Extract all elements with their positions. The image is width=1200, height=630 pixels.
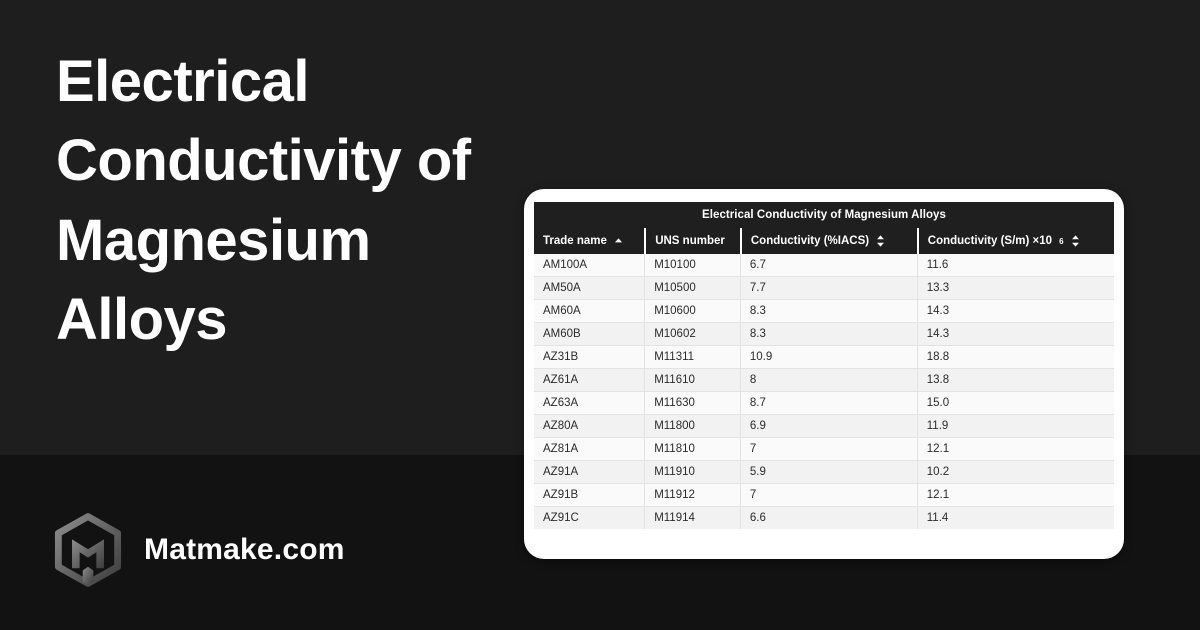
table-row: AZ63AM116308.715.0 bbox=[534, 392, 1114, 415]
cell-trade-name: AZ91B bbox=[534, 484, 644, 507]
cell-conductivity-iacs: 6.7 bbox=[740, 254, 917, 277]
cell-conductivity-sm: 11.6 bbox=[917, 254, 1114, 277]
cell-trade-name: AZ91A bbox=[534, 461, 644, 484]
cell-conductivity-iacs: 10.9 bbox=[740, 346, 917, 369]
cell-uns-number: M11610 bbox=[644, 369, 740, 392]
column-header-uns-number-label: UNS number bbox=[655, 235, 725, 247]
cell-conductivity-sm: 11.4 bbox=[917, 507, 1114, 529]
cell-conductivity-sm: 13.3 bbox=[917, 277, 1114, 300]
column-header-trade-name[interactable]: Trade name bbox=[534, 228, 644, 254]
cell-conductivity-sm: 13.8 bbox=[917, 369, 1114, 392]
cell-uns-number: M10602 bbox=[644, 323, 740, 346]
cell-trade-name: AZ61A bbox=[534, 369, 644, 392]
column-header-uns-number[interactable]: UNS number bbox=[644, 228, 740, 254]
cell-trade-name: AZ91C bbox=[534, 507, 644, 529]
cell-uns-number: M11311 bbox=[644, 346, 740, 369]
cell-uns-number: M11914 bbox=[644, 507, 740, 529]
cell-conductivity-iacs: 7.7 bbox=[740, 277, 917, 300]
table-header: Trade name UNS number bbox=[534, 228, 1114, 254]
cell-conductivity-iacs: 5.9 bbox=[740, 461, 917, 484]
column-header-conductivity-sm[interactable]: Conductivity (S/m) ×106 bbox=[917, 228, 1114, 254]
cell-conductivity-iacs: 6.6 bbox=[740, 507, 917, 529]
table-row: AZ91CM119146.611.4 bbox=[534, 507, 1114, 529]
column-header-conductivity-sm-exponent: 6 bbox=[1059, 237, 1063, 246]
cell-conductivity-sm: 10.2 bbox=[917, 461, 1114, 484]
cell-trade-name: AM60B bbox=[534, 323, 644, 346]
table-row: AZ81AM11810712.1 bbox=[534, 438, 1114, 461]
cell-conductivity-sm: 15.0 bbox=[917, 392, 1114, 415]
cell-conductivity-iacs: 8.7 bbox=[740, 392, 917, 415]
cell-trade-name: AM100A bbox=[534, 254, 644, 277]
cell-uns-number: M11800 bbox=[644, 415, 740, 438]
cell-conductivity-sm: 18.8 bbox=[917, 346, 1114, 369]
cell-conductivity-sm: 11.9 bbox=[917, 415, 1114, 438]
brand-lockup: Matmake.com bbox=[50, 512, 345, 588]
cell-conductivity-sm: 12.1 bbox=[917, 438, 1114, 461]
cell-conductivity-iacs: 8 bbox=[740, 369, 917, 392]
table-row: AZ91AM119105.910.2 bbox=[534, 461, 1114, 484]
page-title: Electrical Conductivity of Magnesium All… bbox=[56, 42, 526, 360]
cell-conductivity-iacs: 6.9 bbox=[740, 415, 917, 438]
cell-trade-name: AM60A bbox=[534, 300, 644, 323]
table-row: AZ80AM118006.911.9 bbox=[534, 415, 1114, 438]
table-caption: Electrical Conductivity of Magnesium All… bbox=[534, 202, 1114, 228]
cell-uns-number: M11630 bbox=[644, 392, 740, 415]
cell-uns-number: M10500 bbox=[644, 277, 740, 300]
cell-conductivity-sm: 14.3 bbox=[917, 300, 1114, 323]
table-row: AM60AM106008.314.3 bbox=[534, 300, 1114, 323]
cell-uns-number: M11810 bbox=[644, 438, 740, 461]
cell-conductivity-iacs: 8.3 bbox=[740, 323, 917, 346]
brand-name: Matmake.com bbox=[144, 533, 345, 567]
cell-uns-number: M11912 bbox=[644, 484, 740, 507]
table-header-row: Trade name UNS number bbox=[534, 228, 1114, 254]
conductivity-table: Electrical Conductivity of Magnesium All… bbox=[534, 202, 1114, 529]
cell-trade-name: AM50A bbox=[534, 277, 644, 300]
sort-both-icon[interactable] bbox=[876, 235, 885, 247]
column-header-trade-name-label: Trade name bbox=[543, 235, 607, 247]
table-row: AM50AM105007.713.3 bbox=[534, 277, 1114, 300]
cell-conductivity-sm: 14.3 bbox=[917, 323, 1114, 346]
cell-uns-number: M10100 bbox=[644, 254, 740, 277]
table-row: AZ61AM11610813.8 bbox=[534, 369, 1114, 392]
table-row: AM60BM106028.314.3 bbox=[534, 323, 1114, 346]
column-header-conductivity-iacs[interactable]: Conductivity (%IACS) bbox=[740, 228, 917, 254]
table-row: AZ31BM1131110.918.8 bbox=[534, 346, 1114, 369]
table-card: Electrical Conductivity of Magnesium All… bbox=[524, 189, 1124, 559]
cell-trade-name: AZ80A bbox=[534, 415, 644, 438]
table-body: AM100AM101006.711.6AM50AM105007.713.3AM6… bbox=[534, 254, 1114, 529]
table-row: AZ91BM11912712.1 bbox=[534, 484, 1114, 507]
column-header-conductivity-sm-label: Conductivity (S/m) ×10 bbox=[928, 235, 1052, 247]
cell-uns-number: M10600 bbox=[644, 300, 740, 323]
cell-trade-name: AZ31B bbox=[534, 346, 644, 369]
column-header-conductivity-iacs-label: Conductivity (%IACS) bbox=[751, 235, 869, 247]
cell-conductivity-iacs: 8.3 bbox=[740, 300, 917, 323]
cell-conductivity-sm: 12.1 bbox=[917, 484, 1114, 507]
sort-ascending-icon[interactable] bbox=[614, 237, 623, 246]
matmake-hexagon-cube-logo-icon bbox=[50, 512, 126, 588]
cell-uns-number: M11910 bbox=[644, 461, 740, 484]
cell-trade-name: AZ63A bbox=[534, 392, 644, 415]
cell-trade-name: AZ81A bbox=[534, 438, 644, 461]
sort-both-icon[interactable] bbox=[1071, 235, 1080, 247]
cell-conductivity-iacs: 7 bbox=[740, 484, 917, 507]
table-row: AM100AM101006.711.6 bbox=[534, 254, 1114, 277]
cell-conductivity-iacs: 7 bbox=[740, 438, 917, 461]
